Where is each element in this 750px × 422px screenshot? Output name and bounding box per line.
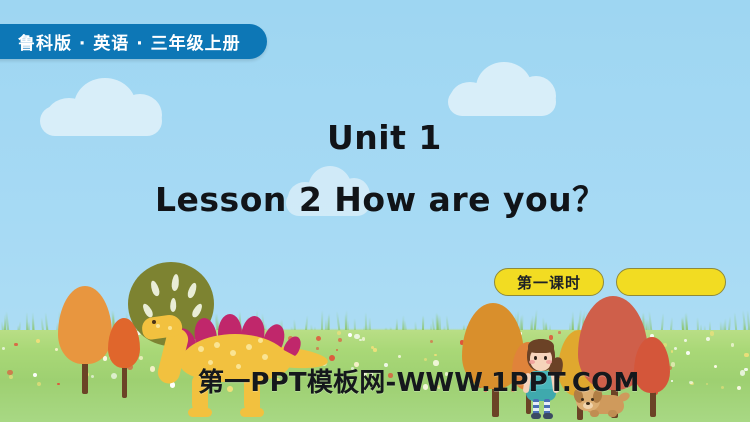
flower-dot — [14, 343, 18, 347]
lesson-period-2-button[interactable] — [616, 268, 726, 296]
flower-dot — [2, 347, 5, 350]
flower-dot — [37, 382, 42, 387]
flower-dot — [686, 351, 690, 355]
flower-dot — [684, 339, 687, 342]
flower-dot — [373, 348, 377, 352]
slide-canvas: 鲁科版 · 英语 · 三年级上册 Unit 1 Lesson 2 How are… — [0, 0, 750, 422]
flower-dot — [424, 358, 427, 361]
flower-dot — [371, 346, 374, 349]
lesson-period-1-button[interactable]: 第一课时 — [494, 268, 604, 296]
flower-dot — [430, 340, 433, 343]
flower-dot — [714, 365, 717, 368]
flower-dot — [744, 368, 748, 372]
flower-dot — [744, 353, 749, 358]
flower-dot — [689, 381, 693, 385]
cloud-top-right — [448, 62, 556, 114]
textbook-edition-badge: 鲁科版 · 英语 · 三年级上册 — [0, 24, 267, 59]
flower-dot — [710, 331, 715, 336]
watermark-text: 第一PPT模板网-WWW.1PPT.COM — [198, 362, 640, 399]
flower-dot — [674, 347, 677, 350]
flower-dot — [348, 333, 353, 338]
flower-dot — [737, 386, 742, 391]
cloud-left — [40, 78, 162, 134]
flower-dot — [36, 339, 40, 343]
lesson-period-1-label: 第一课时 — [517, 272, 581, 293]
flower-dot — [33, 373, 37, 377]
flower-dot — [706, 383, 708, 385]
flower-dot — [721, 386, 724, 389]
flower-dot — [338, 338, 342, 342]
unit-title: Unit 1 — [327, 118, 442, 157]
tree-orange-left — [58, 286, 114, 396]
flower-dot — [337, 331, 341, 335]
lesson-title: Lesson 2 How are you？ — [155, 173, 606, 221]
flower-dot — [336, 349, 339, 352]
flower-dot — [706, 337, 710, 341]
flower-dot — [398, 355, 401, 358]
flower-dot — [731, 343, 735, 347]
flower-dot — [434, 354, 437, 357]
flower-dot — [362, 337, 366, 341]
flower-dot — [9, 375, 14, 380]
badge-label: 鲁科版 · 英语 · 三年级上册 — [18, 29, 241, 54]
